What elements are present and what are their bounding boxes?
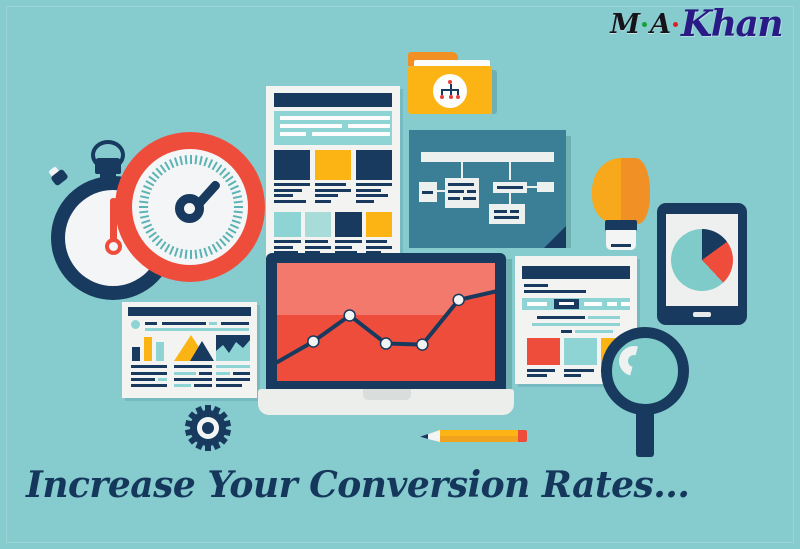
clock-tick [234, 206, 243, 208]
mockup-tile-image [305, 212, 332, 237]
clock-tick [195, 155, 198, 164]
mockup-card [356, 150, 392, 205]
laptop-with-line-chart [258, 253, 514, 425]
gear [186, 406, 230, 450]
mockup-hero-line [348, 124, 390, 128]
mockup-card [315, 150, 351, 205]
brand-letter-a: A [650, 11, 670, 38]
brand-dot-red-icon [673, 22, 678, 27]
tablet-with-pie-chart [657, 203, 747, 325]
clock-tick [174, 248, 179, 257]
mockup-hero-line [280, 132, 306, 136]
line-chart-point [344, 310, 355, 321]
mockup-card-text [315, 183, 351, 203]
sitemap-icon [440, 80, 460, 101]
clock-tick [234, 201, 243, 204]
mockup-right-block [527, 338, 560, 365]
analytics-dashboard [122, 302, 257, 398]
clock-tick [195, 250, 198, 259]
pencil-body-shade [438, 436, 518, 442]
lightbulb-glass-shade [621, 158, 650, 224]
flowchart-node [419, 182, 437, 202]
lightbulb [592, 158, 650, 250]
line-chart-svg [277, 263, 495, 381]
clock [115, 132, 265, 282]
mockup-tile-text [335, 240, 362, 254]
line-chart-point [417, 339, 428, 350]
clock-tick [234, 211, 243, 214]
mockup-tile-image [274, 212, 301, 237]
flowchart-top-bar [421, 152, 554, 162]
mockup-card-text [274, 183, 310, 203]
pencil-tip [420, 434, 428, 439]
mockup-tile [305, 212, 332, 257]
flowchart-folded-corner [544, 226, 566, 248]
clock-tick [185, 155, 188, 164]
clock-tick [190, 250, 192, 259]
clock-tick [199, 249, 203, 258]
pie-chart [671, 229, 733, 291]
brand-logo: M A Khan [610, 6, 782, 42]
pencil [420, 429, 530, 443]
flowchart-node [489, 204, 525, 224]
clock-tick [140, 215, 149, 219]
area-chart-svg [216, 335, 250, 361]
laptop-screen [277, 263, 495, 381]
magnifying-glass [601, 327, 693, 457]
flowchart-connector [509, 162, 511, 180]
mockup-right-header [522, 266, 630, 279]
lightbulb-base [606, 230, 636, 250]
clock-tick [232, 219, 241, 224]
dashboard-header [128, 307, 251, 316]
mockup-tile [366, 212, 393, 257]
clock-tick [139, 211, 148, 214]
mockup-tile-text [274, 240, 301, 254]
clock-hub [175, 194, 204, 223]
brand-dot-green-icon [642, 22, 647, 27]
clock-tick [232, 190, 241, 195]
clock-tick [203, 248, 208, 257]
clock-tick [199, 156, 203, 165]
flowchart-connector [527, 186, 537, 188]
clock-tick [185, 250, 188, 259]
flowchart-panel-shadow [566, 136, 571, 248]
mockup-right-block [564, 338, 597, 365]
tablet-home-button[interactable] [693, 312, 711, 317]
mockup-tile-text [366, 240, 393, 254]
laptop-shadow [506, 259, 512, 391]
dashboard-triangle-chart [174, 335, 212, 361]
gear-hub [202, 422, 214, 434]
page-title: Increase Your Conversion Rates... [26, 464, 689, 506]
dashboard-area-chart [216, 335, 250, 361]
clock-tick [143, 185, 152, 190]
mockup-hero-block [274, 111, 392, 145]
mockup-card-image [356, 150, 392, 180]
clock-tick [140, 195, 149, 199]
mockup-content-grid [274, 150, 392, 257]
clock-tick [169, 159, 174, 168]
clock-tick [141, 190, 150, 195]
line-chart-point [453, 294, 464, 305]
mockup-card-image [315, 150, 351, 180]
mockup-hero-line [312, 132, 390, 136]
mockup-header-bar [274, 93, 392, 107]
clock-tick [139, 206, 148, 208]
flowchart-node [537, 182, 554, 192]
line-chart-point [308, 336, 319, 347]
mockup-hero-line [280, 116, 390, 120]
avatar [131, 320, 140, 329]
mockup-card-image [274, 150, 310, 180]
mockup-tile [274, 212, 301, 257]
mockup-tile-text [305, 240, 332, 254]
mockup-tile-image [366, 212, 393, 237]
folder-with-sitemap [406, 48, 498, 118]
poster-canvas: M A Khan [0, 0, 800, 549]
clock-tick [179, 249, 183, 258]
laptop-trackpad-notch [363, 389, 411, 400]
flowchart-node [493, 182, 527, 193]
mockup-row-large [274, 150, 392, 205]
brand-letter-m: M [610, 11, 639, 38]
dashboard-bar-chart [131, 335, 167, 361]
mockup-hero-line [280, 124, 342, 128]
brand-word: Khan [681, 6, 782, 42]
pencil-eraser [518, 430, 527, 442]
mockup-right-navbar [522, 298, 630, 310]
clock-tick [233, 215, 242, 219]
clock-tick [179, 156, 183, 165]
line-chart-area [277, 292, 495, 381]
webpage-mockup [266, 86, 400, 258]
line-chart-point [381, 338, 392, 349]
mockup-card-text [356, 183, 392, 203]
mockup-tile-image [335, 212, 362, 237]
mockup-right-nav-active [554, 299, 579, 309]
clock-tick [139, 201, 148, 204]
clock-tick [233, 195, 242, 199]
folder-shadow [492, 70, 497, 114]
clock-tick [174, 157, 179, 166]
mockup-tile [335, 212, 362, 257]
mockup-row-small [274, 212, 392, 257]
mockup-card [274, 150, 310, 205]
flowchart-panel [409, 130, 566, 248]
flowchart-node-main [445, 178, 479, 208]
clock-tick [190, 155, 192, 164]
